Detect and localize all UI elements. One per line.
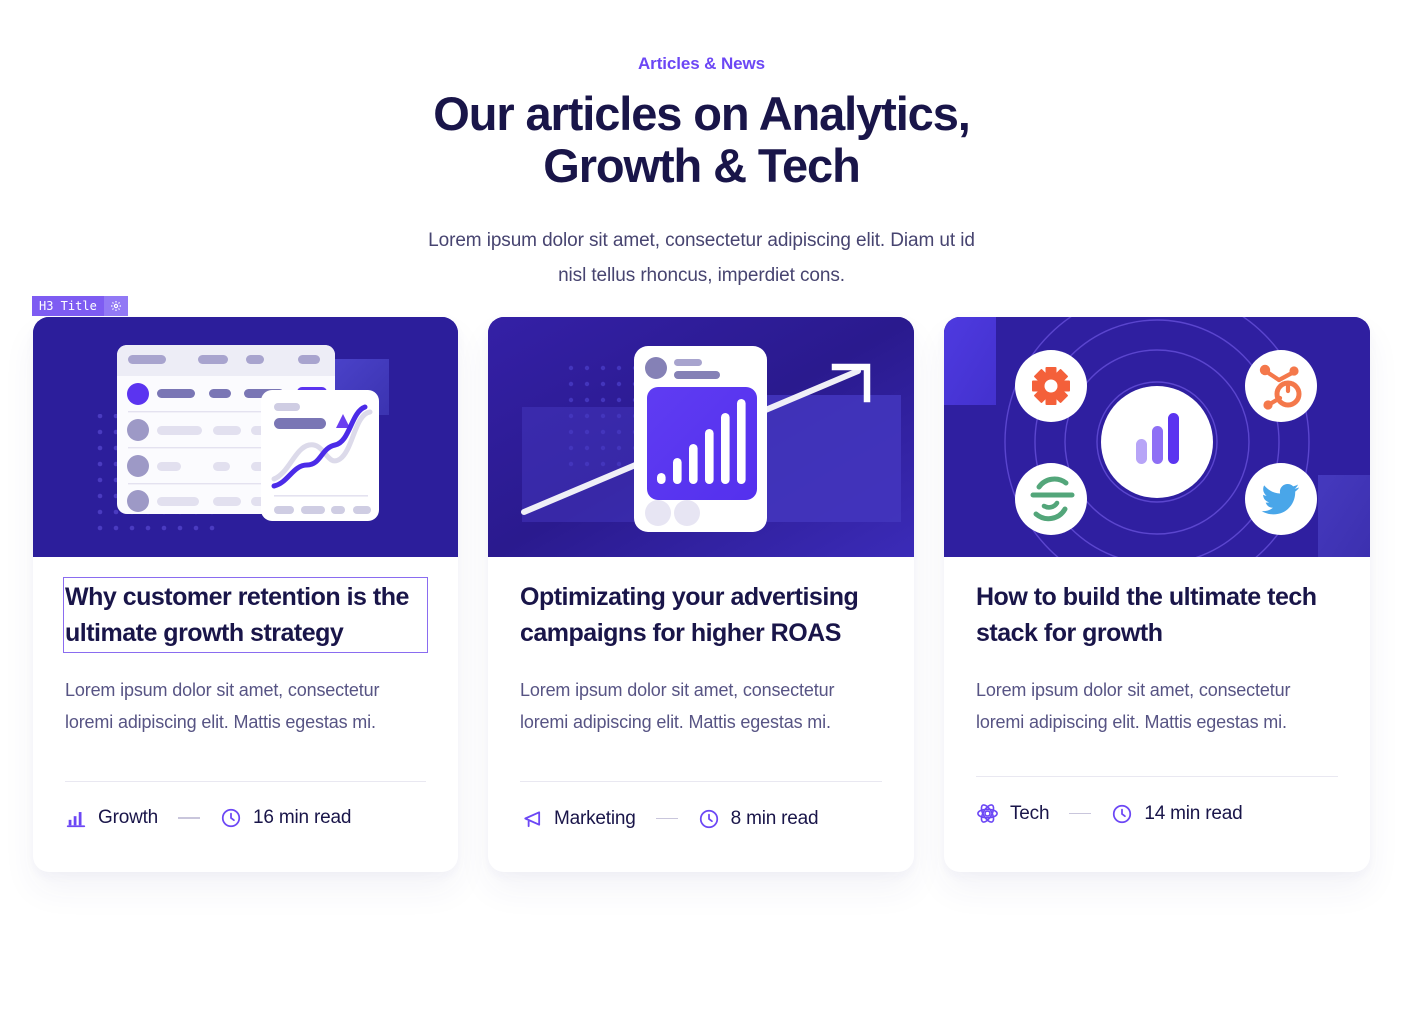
- article-category-label: Growth: [98, 807, 158, 829]
- subhead-line-2: nisl tellus rhoncus, imperdiet cons.: [558, 265, 845, 286]
- article-thumbnail: [33, 317, 458, 557]
- megaphone-icon: [520, 807, 543, 830]
- clock-icon: [1111, 803, 1133, 825]
- article-meta: Tech 14 min read: [976, 777, 1338, 867]
- article-excerpt: Lorem ipsum dolor sit amet, consectetur …: [976, 674, 1338, 738]
- article-title[interactable]: Why customer retention is the ultimate g…: [65, 579, 426, 651]
- article-card-body: Optimizating your advertising campaigns …: [488, 557, 914, 872]
- section-header: Articles & News Our articles on Analytic…: [0, 0, 1403, 293]
- editor-tag-label: H3 Title: [32, 296, 104, 316]
- clock-icon: [220, 807, 242, 829]
- dashboard-table-chart-illustration: [33, 317, 458, 557]
- meta-separator: [656, 818, 678, 820]
- article-read-time-label: 8 min read: [731, 808, 819, 830]
- article-card[interactable]: Optimizating your advertising campaigns …: [488, 317, 914, 872]
- section-eyebrow: Articles & News: [0, 54, 1403, 74]
- article-read-time: 14 min read: [1111, 803, 1242, 825]
- article-read-time-label: 14 min read: [1144, 803, 1242, 825]
- mobile-growth-arrow-illustration: [488, 317, 914, 557]
- page-title: Our articles on Analytics, Growth & Tech: [0, 88, 1403, 192]
- article-thumbnail: [944, 317, 1370, 557]
- article-read-time-label: 16 min read: [253, 807, 351, 829]
- article-category: Tech: [976, 802, 1049, 825]
- headline-line-1: Our articles on Analytics,: [433, 87, 969, 140]
- clock-icon: [698, 808, 720, 830]
- article-meta: Marketing 8 min read: [520, 782, 882, 872]
- gear-icon[interactable]: [104, 296, 128, 316]
- articles-news-section: Articles & News Our articles on Analytic…: [0, 0, 1403, 1034]
- article-excerpt: Lorem ipsum dolor sit amet, consectetur …: [520, 674, 882, 738]
- article-card-body: Why customer retention is the ultimate g…: [33, 557, 458, 871]
- section-subhead: Lorem ipsum dolor sit amet, consectetur …: [0, 223, 1403, 293]
- meta-separator: [178, 817, 200, 819]
- article-card-grid: Why customer retention is the ultimate g…: [0, 317, 1403, 872]
- article-thumbnail: [488, 317, 914, 557]
- editor-selection-badge[interactable]: H3 Title: [32, 296, 128, 316]
- article-read-time: 8 min read: [698, 808, 819, 830]
- subhead-line-1: Lorem ipsum dolor sit amet, consectetur …: [428, 230, 975, 251]
- bar-chart-icon: [65, 807, 87, 829]
- article-card-body: How to build the ultimate tech stack for…: [944, 557, 1370, 867]
- headline-line-2: Growth & Tech: [543, 139, 859, 192]
- article-category: Growth: [65, 807, 158, 829]
- article-card[interactable]: How to build the ultimate tech stack for…: [944, 317, 1370, 872]
- meta-separator: [1069, 813, 1091, 815]
- article-category-label: Tech: [1010, 803, 1049, 825]
- article-card[interactable]: Why customer retention is the ultimate g…: [33, 317, 458, 872]
- article-title[interactable]: How to build the ultimate tech stack for…: [976, 579, 1338, 651]
- article-excerpt: Lorem ipsum dolor sit amet, consectetur …: [65, 674, 426, 738]
- article-category: Marketing: [520, 807, 636, 830]
- article-meta: Growth 16 min read: [65, 782, 426, 871]
- article-title[interactable]: Optimizating your advertising campaigns …: [520, 579, 882, 651]
- article-category-label: Marketing: [554, 808, 636, 830]
- article-read-time: 16 min read: [220, 807, 351, 829]
- atom-icon: [976, 802, 999, 825]
- integrations-orbit-illustration: [944, 317, 1370, 557]
